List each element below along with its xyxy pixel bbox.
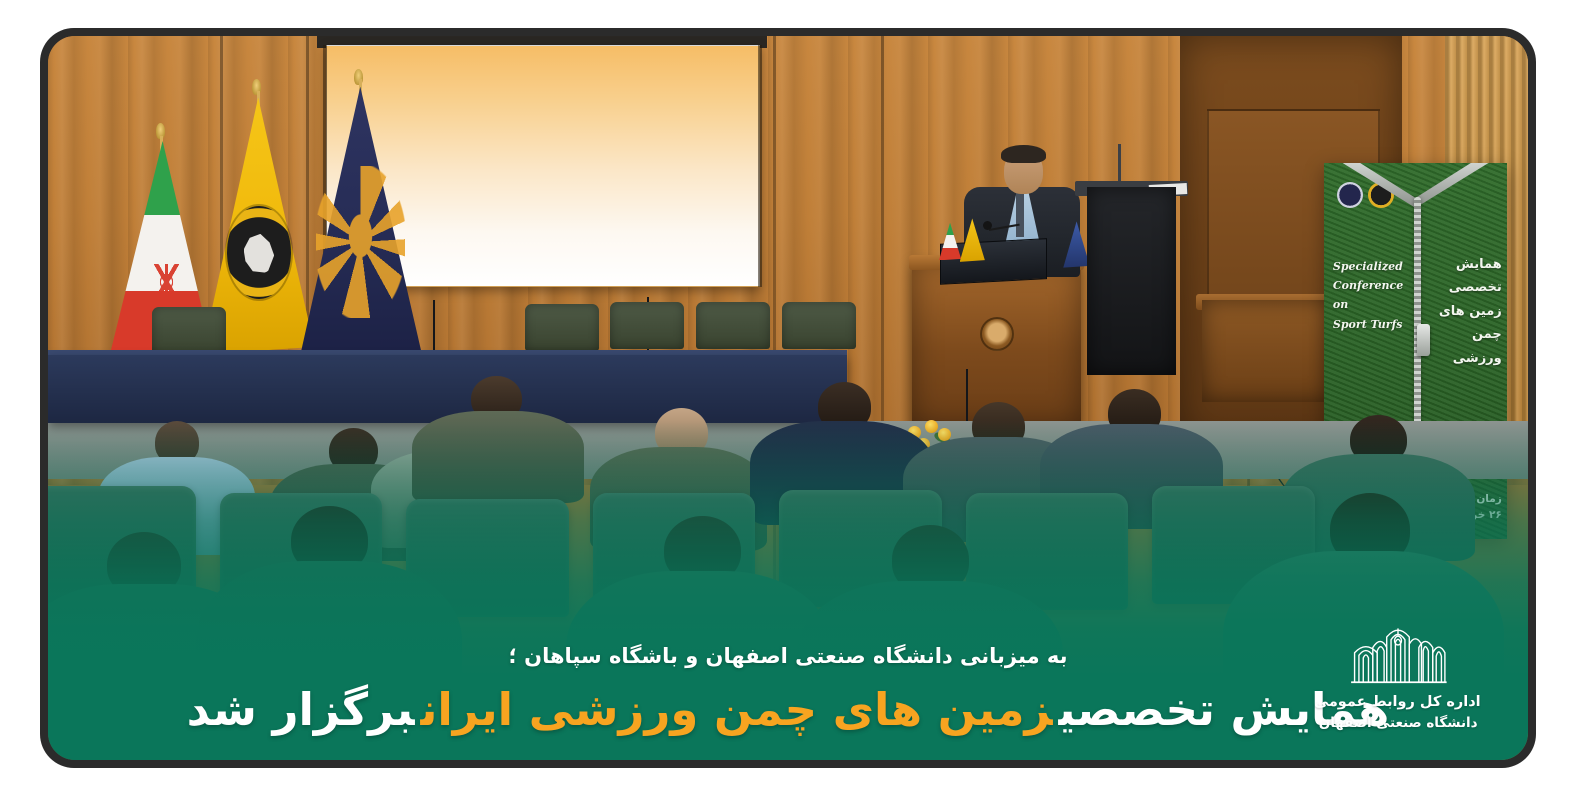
speaker-tie [1016,192,1024,237]
caption-block: به میزبانی دانشگاه صنعتی اصفهان و باشگاه… [48,644,1528,738]
caption-headline: همایش تخصصیزمین های چمن ورزشی ایرانبرگزا… [122,683,1454,738]
stage-chair [696,302,770,349]
iran-flag-emblem [152,264,182,300]
iut-crest-logo [1337,182,1363,208]
rollup-en-line-3: Sport Turfs [1333,315,1414,334]
screen-right-edge [758,45,762,288]
caption-kicker: به میزبانی دانشگاه صنعتی اصفهان و باشگاه… [122,644,1454,669]
rollup-english-title: Specialized Conference on Sport Turfs [1333,257,1414,334]
headline-part-2-highlight: زمین های چمن ورزشی ایران [420,683,1052,736]
conference-hall-photo: Specialized Conference on Sport Turfs هم… [48,36,1528,760]
stage-desk [48,355,847,424]
photo-frame: Specialized Conference on Sport Turfs هم… [40,28,1536,768]
headline-part-3: برگزار شد [187,683,415,736]
pr-logo-line-1: اداره کل روابط عمومی [1316,691,1481,713]
lectern-university-seal [980,317,1014,351]
speaker-hair [1001,145,1045,164]
rollup-persian-title: همایش تخصصی زمین های چمن ورزشی [1421,253,1502,370]
screenshot-root: Specialized Conference on Sport Turfs هم… [0,0,1572,800]
stage-chair [525,304,599,351]
side-table [1202,300,1332,401]
stage-chair [782,302,856,349]
sepahan-club-logo [227,206,291,299]
rollup-fa-line-1: همایش تخصصی [1421,253,1502,300]
rollup-fa-line-2: زمین های چمن ورزشی [1421,300,1502,370]
stage-chair [152,307,226,354]
iut-building-mark-icon [1337,618,1459,684]
av-rack [1087,187,1176,375]
audience-shoulders [412,411,584,502]
rollup-en-line-2: Conference on [1333,276,1414,315]
iut-crest-logo [316,166,405,318]
photo-frame-inner: Specialized Conference on Sport Turfs هم… [48,36,1528,760]
pr-logo-line-2: دانشگاه صنعتی اصفهان [1316,713,1481,734]
rollup-en-line-1: Specialized [1333,257,1414,276]
stage-chair [610,302,684,349]
public-relations-logo: اداره کل روابط عمومی دانشگاه صنعتی اصفها… [1316,618,1481,734]
